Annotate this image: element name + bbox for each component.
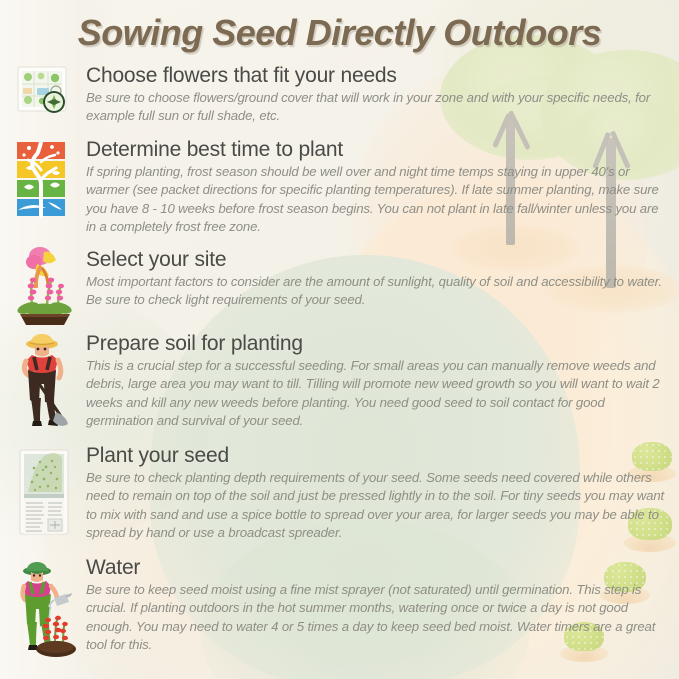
section-heading: Water — [86, 556, 665, 580]
section-text: This is a crucial step for a successful … — [86, 357, 665, 431]
seed-packet-icon — [14, 448, 76, 536]
section-text: Be sure to check planting depth requirem… — [86, 469, 665, 543]
section-body: Plant your seed Be sure to check plantin… — [86, 444, 665, 543]
section-select-site: Select your site Most important factors … — [14, 248, 665, 310]
section-prepare-soil: Prepare soil for planting This is a cruc… — [14, 332, 665, 431]
section-heading: Select your site — [86, 248, 665, 272]
section-plant-seed: Plant your seed Be sure to check plantin… — [14, 444, 665, 543]
section-body: Select your site Most important factors … — [86, 248, 665, 310]
section-body: Choose flowers that fit your needs Be su… — [86, 64, 665, 126]
section-heading: Determine best time to plant — [86, 138, 665, 162]
section-body: Water Be sure to keep seed moist using a… — [86, 556, 665, 655]
section-text: Most important factors to consider are t… — [86, 273, 665, 310]
section-text: If spring planting, frost season should … — [86, 163, 665, 237]
section-heading: Plant your seed — [86, 444, 665, 468]
page-title: Sowing Seed Directly Outdoors — [0, 12, 679, 54]
section-heading: Choose flowers that fit your needs — [86, 64, 665, 88]
section-body: Determine best time to plant If spring p… — [86, 138, 665, 237]
section-water: Water Be sure to keep seed moist using a… — [14, 556, 665, 655]
garden-plan-icon — [14, 64, 76, 122]
section-body: Prepare soil for planting This is a cruc… — [86, 332, 665, 431]
four-seasons-icon — [14, 140, 76, 218]
gardener-watering-icon — [14, 558, 76, 658]
section-best-time: Determine best time to plant If spring p… — [14, 138, 665, 237]
section-text: Be sure to choose flowers/ground cover t… — [86, 89, 665, 126]
section-text: Be sure to keep seed moist using a fine … — [86, 581, 665, 655]
section-choose-flowers: Choose flowers that fit your needs Be su… — [14, 64, 665, 126]
infographic-poster: Sowing Seed Directly Outdoors — [0, 0, 679, 679]
section-heading: Prepare soil for planting — [86, 332, 665, 356]
flower-planter-icon — [14, 246, 76, 326]
gardener-shovel-icon — [14, 332, 76, 432]
